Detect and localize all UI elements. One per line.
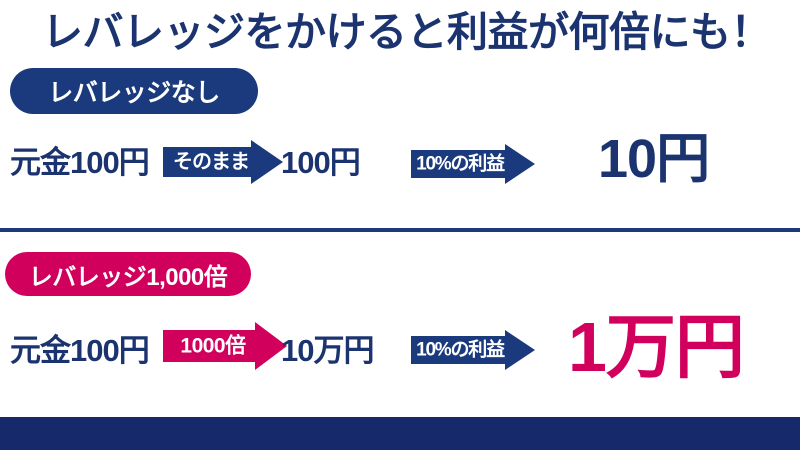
leverage-infographic: レバレッジをかけると利益が何倍にも！ レバレッジなし 元金100円 そのまま 1… [0,0,800,450]
row1-principal-label: 元金100円 [10,147,149,178]
row2-arrow-profit-label: 10%の利益 [415,341,505,360]
row1-middle-value: 100円 [281,147,360,178]
row2-result-value: 1万円 [568,312,744,382]
badge-leverage-1000x: レバレッジ1,000倍 [5,252,251,296]
row2-arrow-1000x: 1000倍 [163,322,287,370]
row1-arrow-profit-label: 10%の利益 [415,155,505,174]
row2-arrow-1000x-label: 1000倍 [169,336,257,357]
page-title: レバレッジをかけると利益が何倍にも！ [42,8,771,57]
row1-arrow-sonomama-label: そのまま [169,152,253,172]
section-divider [0,228,800,232]
row1-result-value: 10円 [598,132,709,186]
badge-no-leverage: レバレッジなし [10,68,258,114]
footer-bar [0,417,800,450]
row2-middle-value: 10万円 [281,335,373,366]
row2-principal-label: 元金100円 [10,335,149,366]
row1-arrow-profit: 10%の利益 [411,144,535,184]
row1-arrow-sonomama: そのまま [163,140,283,184]
row2-arrow-profit: 10%の利益 [411,330,535,370]
